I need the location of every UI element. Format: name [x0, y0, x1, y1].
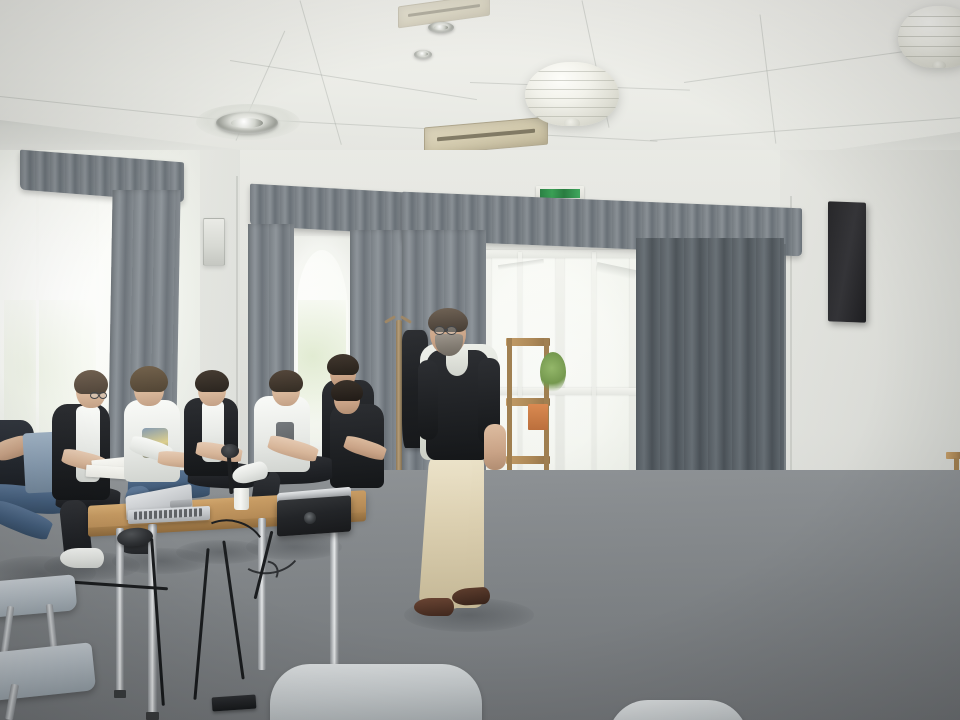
- presenter-glasses-right: [446, 326, 457, 335]
- table-leg-foot: [146, 712, 159, 720]
- door-mullion-left: [518, 252, 522, 506]
- presenter-glasses-bridge: [444, 329, 448, 331]
- wall-speaker: [828, 201, 866, 322]
- presenter-glasses-left: [434, 326, 445, 335]
- presenter-shoe-left: [414, 598, 454, 616]
- door-frame-head: [484, 250, 638, 258]
- presenter-shoe-right: [451, 587, 490, 607]
- attendee-5-hair: [327, 354, 359, 375]
- lantern-nub: [564, 118, 579, 126]
- exit-sign-green-panel: [540, 189, 580, 198]
- table-leg-front-right: [330, 512, 339, 688]
- vent-slot: [437, 129, 535, 142]
- attendee-3-hair: [195, 370, 229, 392]
- ceiling-spot-1: [216, 112, 278, 134]
- table-leg-foot: [114, 690, 126, 698]
- paper-cup: [234, 488, 249, 510]
- photo-scene: [0, 0, 960, 720]
- chair-foreground-3[interactable]: [270, 664, 482, 720]
- ceiling-spot-5: [428, 22, 454, 33]
- trolley-leg-left: [507, 338, 512, 480]
- microphone-head: [221, 444, 239, 458]
- paper-lantern-right: [898, 6, 960, 68]
- attendee-1-shoe: [60, 548, 104, 568]
- ceiling-spot-6: [414, 50, 432, 59]
- attendee-1-hair: [74, 370, 108, 394]
- lantern-nub: [932, 61, 945, 68]
- attendee-2-hair: [130, 366, 168, 392]
- wall-lamp: [203, 218, 225, 266]
- attendee-1-glasses: [99, 392, 107, 399]
- presenter-forearm: [484, 424, 506, 470]
- attendee-4-hair: [269, 370, 303, 392]
- vent-slot: [408, 4, 480, 17]
- projector-lens: [304, 512, 316, 524]
- presenter-arm-near: [418, 360, 438, 440]
- trolley-box: [528, 404, 548, 430]
- attendee-6-hair: [331, 380, 363, 401]
- attendee-1-glasses: [90, 392, 99, 399]
- table-leg-back-left: [116, 528, 124, 696]
- paper-lantern-center: [525, 62, 619, 126]
- door-mullion-right: [592, 252, 596, 504]
- plant-behind-doors: [540, 352, 566, 392]
